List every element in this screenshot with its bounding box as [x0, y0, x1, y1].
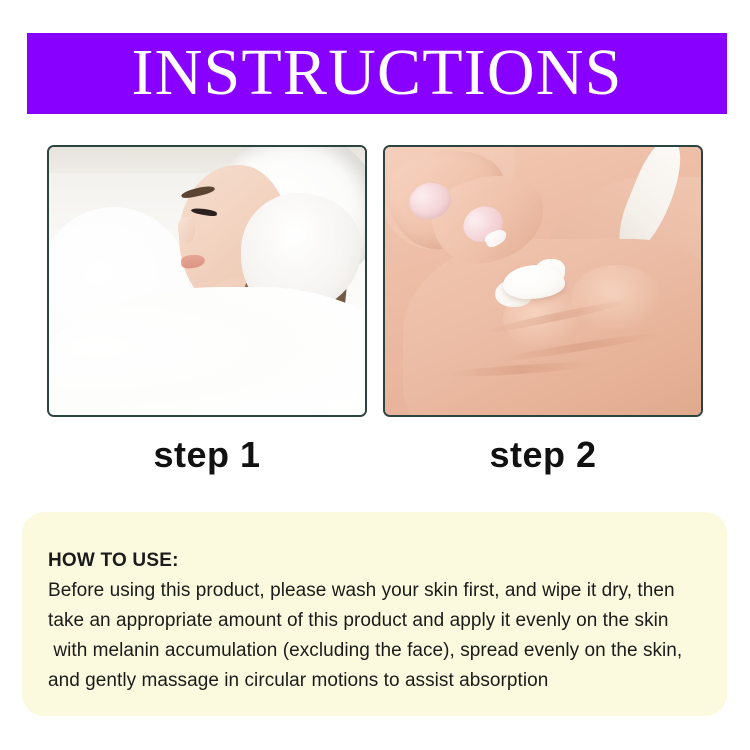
page-title: INSTRUCTIONS [131, 40, 622, 106]
how-to-use-heading: HOW TO USE: [48, 546, 701, 576]
step-2-column: step 2 [383, 145, 703, 474]
step-2-photo-frame [383, 145, 703, 417]
step-1-photo-frame [47, 145, 367, 417]
step-2-photo [385, 147, 701, 415]
step-1-column: step 1 [47, 145, 367, 474]
how-to-use-line: take an appropriate amount of this produ… [48, 606, 701, 636]
knuckle-highlight-b [571, 265, 661, 331]
instructions-page: INSTRUCTIONS [0, 0, 750, 750]
how-to-use-panel: HOW TO USE: Before using this product, p… [22, 512, 727, 716]
how-to-use-line: Before using this product, please wash y… [48, 576, 701, 606]
nose [178, 217, 195, 243]
step-1-label: step 1 [153, 436, 260, 474]
steps-row: step 1 [47, 145, 703, 474]
how-to-use-body: Before using this product, please wash y… [48, 576, 701, 696]
header-banner: INSTRUCTIONS [27, 33, 727, 114]
how-to-use-line: and gently massage in circular motions t… [48, 666, 701, 696]
step-2-label: step 2 [489, 436, 596, 474]
how-to-use-line: with melanin accumulation (excluding the… [48, 636, 701, 666]
step-1-photo [49, 147, 365, 415]
